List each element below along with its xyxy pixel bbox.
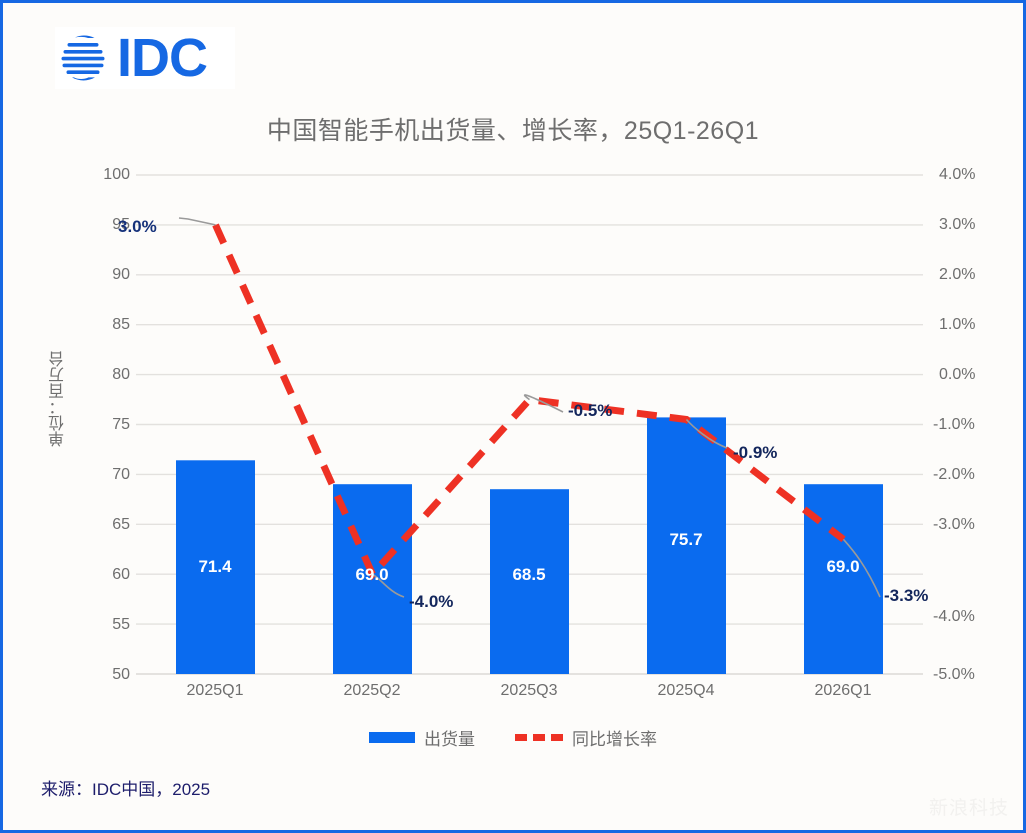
growth-label-2025Q3: -0.5% [568,401,612,421]
watermark: 新浪科技 [929,793,1009,820]
ytick-left-55: 55 [88,616,130,634]
bar-label-2026Q1: 69.0 [783,557,903,577]
growth-label-2025Q2: -4.0% [409,592,453,612]
ytick-right-1: 1.0% [939,316,1003,334]
ytick-left-85: 85 [88,316,130,334]
ytick-left-100: 100 [88,166,130,184]
chart-legend: 出货量 同比增长率 [3,725,1023,750]
xtick-2025Q2: 2025Q2 [292,682,452,700]
legend-bar-swatch-icon [369,732,415,743]
ytick-left-80: 80 [88,366,130,384]
source-note: 来源：IDC中国，2025 [41,775,210,800]
ytick-right-0: 0.0% [939,366,1003,384]
ytick-right-m1: -1.0% [933,416,997,434]
ytick-right-m2: -2.0% [933,466,997,484]
chart-page: IDC 中国智能手机出货量、增长率，25Q1-26Q1 单位：百万台 [0,0,1026,833]
xtick-2025Q1: 2025Q1 [135,682,295,700]
ytick-right-m4: -4.0% [933,608,997,626]
bar-label-2025Q1: 71.4 [155,557,275,577]
ytick-right-2: 2.0% [939,266,1003,284]
growth-label-2026Q1: -3.3% [884,586,928,606]
ytick-right-m5: -5.0% [933,666,997,684]
bar-label-2025Q3: 68.5 [469,565,589,585]
growth-label-2025Q1: 3.0% [118,217,157,237]
ytick-left-60: 60 [88,566,130,584]
ytick-left-50: 50 [88,666,130,684]
xtick-2026Q1: 2026Q1 [763,682,923,700]
ytick-left-75: 75 [88,416,130,434]
bar-label-2025Q4: 75.7 [626,530,746,550]
xtick-2025Q4: 2025Q4 [606,682,766,700]
legend-dashed-line-swatch-icon [515,734,563,741]
legend-item-growth[interactable]: 同比增长率 [515,725,657,750]
growth-label-2025Q4: -0.9% [733,443,777,463]
chart-canvas [3,3,1026,833]
ytick-right-3: 3.0% [939,216,1003,234]
ytick-left-70: 70 [88,466,130,484]
ytick-right-m3: -3.0% [933,516,997,534]
xtick-2025Q3: 2025Q3 [449,682,609,700]
bar-label-2025Q2: 69.0 [312,565,432,585]
legend-item-shipments[interactable]: 出货量 [369,725,475,750]
chart-plot-area: 单位：百万台 [3,3,1026,833]
legend-label-shipments: 出货量 [424,725,475,750]
ytick-right-4: 4.0% [939,166,1003,184]
ytick-left-65: 65 [88,516,130,534]
legend-label-growth: 同比增长率 [572,725,657,750]
ytick-left-90: 90 [88,266,130,284]
